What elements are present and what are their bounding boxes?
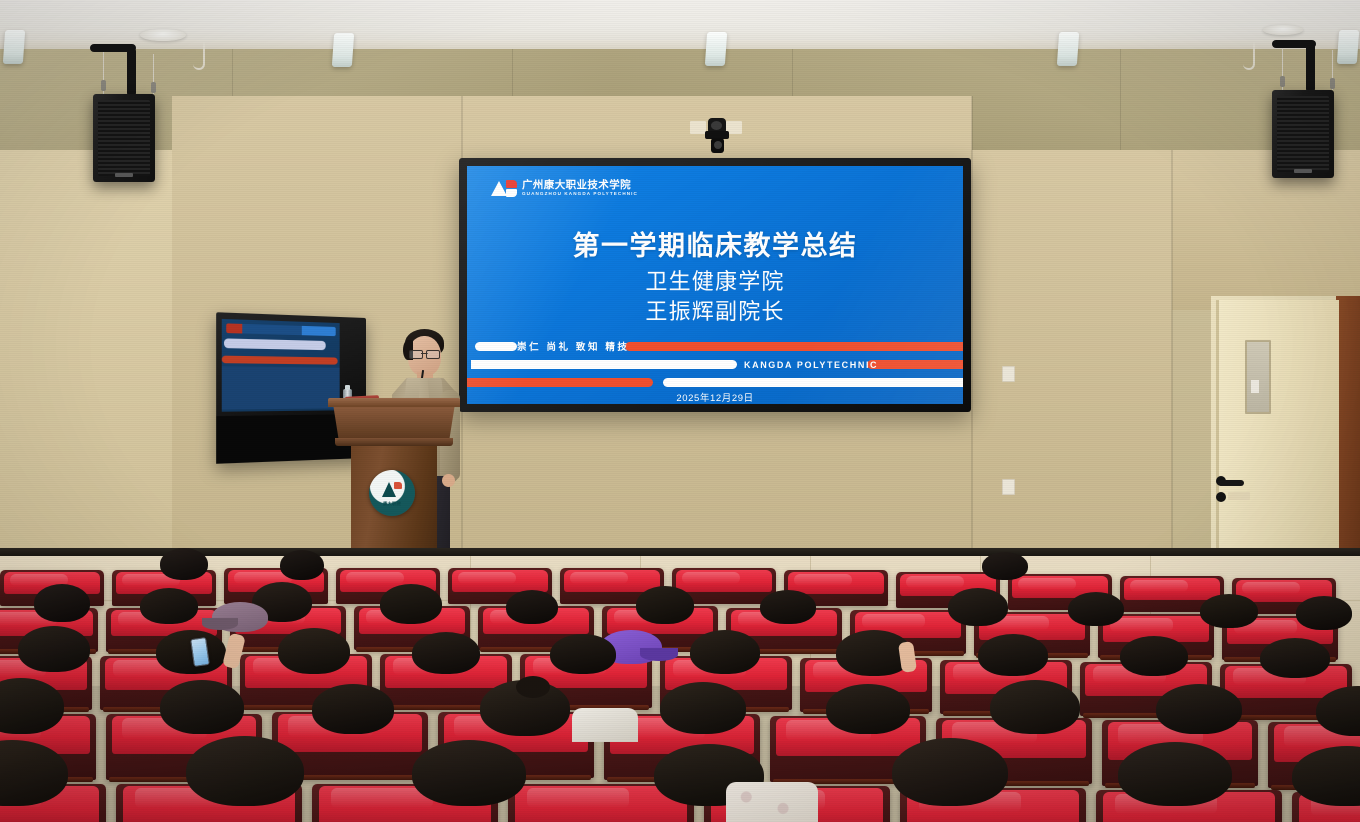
podium-lip [335,438,453,446]
presentation-slide: 广州康大职业技术学院 GUANGZHOU KANGDA POLYTECHNIC … [467,166,963,404]
podium-emblem: 康大职院 [369,470,415,516]
audience-head [186,736,304,806]
podium-reading-surface [331,407,457,439]
audience-head [1120,636,1188,676]
bar-red-3 [467,378,653,387]
audience-head [892,738,1008,806]
audience-head [948,588,1008,626]
audience-head [34,584,90,622]
audience-head [660,682,746,734]
podium-emblem-text: 康大职院 [369,501,415,507]
audience-head [1068,592,1124,626]
audience-cap-mauve [212,602,268,632]
slide-logo-en: GUANGZHOU KANGDA POLYTECHNIC [522,191,638,196]
slide-logo: 广州康大职业技术学院 GUANGZHOU KANGDA POLYTECHNIC [491,180,638,197]
audience-head [380,584,442,624]
audience-head [550,634,616,674]
audience-hair-bun [516,676,550,698]
monitor-bar-white [224,338,326,350]
acoustic-panel-right [972,150,1172,580]
audience-head [312,684,394,734]
wall-sconce-light [1057,32,1079,66]
smoke-detector-icon [140,29,186,41]
door-strike-plate [1228,492,1250,500]
audience-head [18,626,90,672]
audience-head [978,634,1048,676]
presenter-hand [442,474,455,487]
monitor-bar-dark [222,366,340,409]
bar-white-2 [471,360,737,369]
audience-head [1156,684,1242,734]
kangda-logo-icon [491,180,517,197]
audience-jacket-white [572,708,638,742]
audience-head [278,628,350,674]
audience-head [982,552,1028,580]
monitor-screen [222,319,340,412]
audience-head [636,586,694,624]
wall-sconce-light [1337,30,1359,64]
audience-head [826,684,910,734]
podium-top [328,398,460,407]
wood-trim-right [1336,296,1360,580]
door-lock-icon[interactable] [1216,492,1226,502]
bar-white-1 [475,342,517,351]
monitor-slide-header [226,323,335,336]
slide-logo-cn: 广州康大职业技术学院 [522,180,638,191]
audience-head [1296,596,1352,630]
auditorium-scene: 广州康大职业技术学院 GUANGZHOU KANGDA POLYTECHNIC … [0,0,1360,822]
wall-left-plain [0,150,172,580]
bar-white-3 [663,378,963,387]
slide-subtitle-presenter: 王振辉副院长 [467,294,963,326]
ceiling-hook-icon [1243,42,1255,70]
audience-head [1260,638,1330,678]
smoke-detector-icon [1263,25,1303,35]
audience-head [412,740,526,806]
audience-head [140,588,198,624]
door-handle[interactable] [1218,480,1244,486]
audience-area [0,556,1360,822]
slide-subtitle-department: 卫生健康学院 [467,264,963,296]
panel-edge [971,96,973,580]
audience-jacket-floral [726,782,818,822]
audience-head [760,590,816,624]
audience-head [160,680,244,734]
audience-head [280,550,324,580]
wall-sconce-light [705,32,727,66]
wall-outlet-plate[interactable] [1002,366,1015,382]
slide-title: 第一学期临床教学总结 [467,224,963,263]
audience-head [1118,742,1232,806]
audience-head [990,680,1080,734]
slide-motto: 崇仁 尚礼 致知 精技 [517,339,630,353]
eyeglasses-icon [409,350,440,357]
slide-date: 2025年12月29日 [467,390,963,404]
projection-screen-frame: 广州康大职业技术学院 GUANGZHOU KANGDA POLYTECHNIC … [459,158,971,412]
audience-head [412,632,480,674]
wall-sconce-light [332,33,354,67]
panel-edge [1171,150,1173,580]
ceiling-hook-icon [193,42,205,70]
audience-head [506,590,558,624]
bar-red-2 [867,360,963,369]
audience-head [690,630,760,674]
wall-outlet-plate[interactable] [1002,479,1015,495]
wall-sconce-light [3,30,25,64]
audience-head [1200,594,1258,628]
audience-head [160,548,208,580]
door-vision-panel [1245,340,1271,414]
monitor-bar-red [222,356,338,365]
exit-door[interactable] [1216,300,1339,580]
bar-red-1 [625,342,963,351]
ptz-camera-icon [700,118,734,156]
slide-brand-en: KANGDA POLYTECHNIC [744,360,878,370]
